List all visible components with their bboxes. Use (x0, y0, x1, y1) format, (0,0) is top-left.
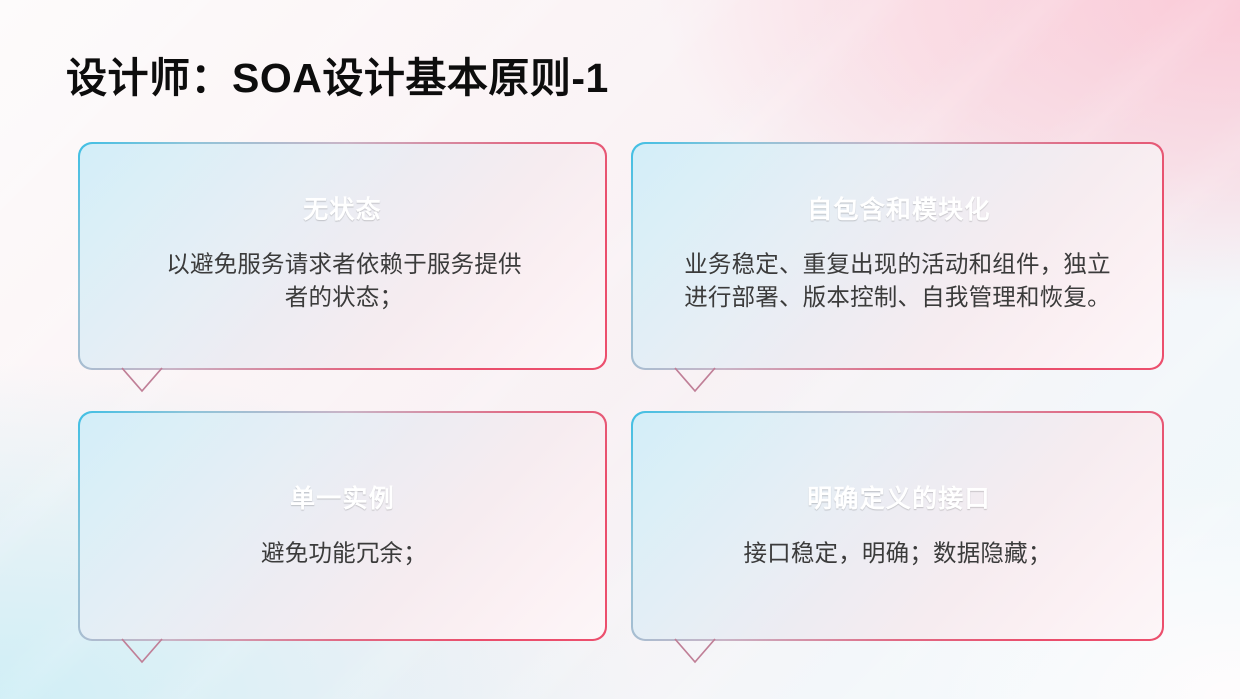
principle-body-single-instance: 避免功能冗余； (118, 537, 570, 570)
page-title: 设计师：SOA设计基本原则-1 (66, 44, 609, 104)
card-pointer-tail (122, 638, 162, 664)
card-pointer-tail (122, 367, 162, 393)
card-border (78, 411, 607, 641)
principle-body-stateless: 以避免服务请求者依赖于服务提供 者的状态； (118, 248, 570, 315)
principle-card-single-instance[interactable] (78, 411, 607, 641)
card-surface (633, 413, 1163, 640)
principle-pill-self-contained-modular[interactable]: 自包含和模块化 (765, 184, 1033, 231)
card-pointer-tail (675, 638, 715, 664)
pill-label: 自包含和模块化 (807, 190, 990, 226)
pill-label: 单一实例 (290, 479, 395, 515)
principle-pill-well-defined-interface[interactable]: 明确定义的接口 (765, 473, 1033, 520)
pill-label: 明确定义的接口 (807, 479, 990, 515)
pill-label: 无状态 (303, 190, 382, 226)
principle-body-well-defined-interface: 接口稳定，明确；数据隐藏； (655, 537, 1140, 570)
card-pointer-tail (675, 367, 715, 393)
card-border (631, 411, 1164, 641)
slide-canvas: 设计师：SOA设计基本原则-1 无状态 以避免服务请求者依赖于服务提供 者的状态… (0, 0, 1240, 699)
principle-pill-single-instance[interactable]: 单一实例 (209, 473, 476, 520)
principle-card-well-defined-interface[interactable] (631, 411, 1164, 641)
card-surface (80, 413, 606, 640)
principle-pill-stateless[interactable]: 无状态 (209, 184, 476, 231)
principle-body-self-contained-modular: 业务稳定、重复出现的活动和组件，独立 进行部署、版本控制、自我管理和恢复。 (655, 248, 1140, 315)
